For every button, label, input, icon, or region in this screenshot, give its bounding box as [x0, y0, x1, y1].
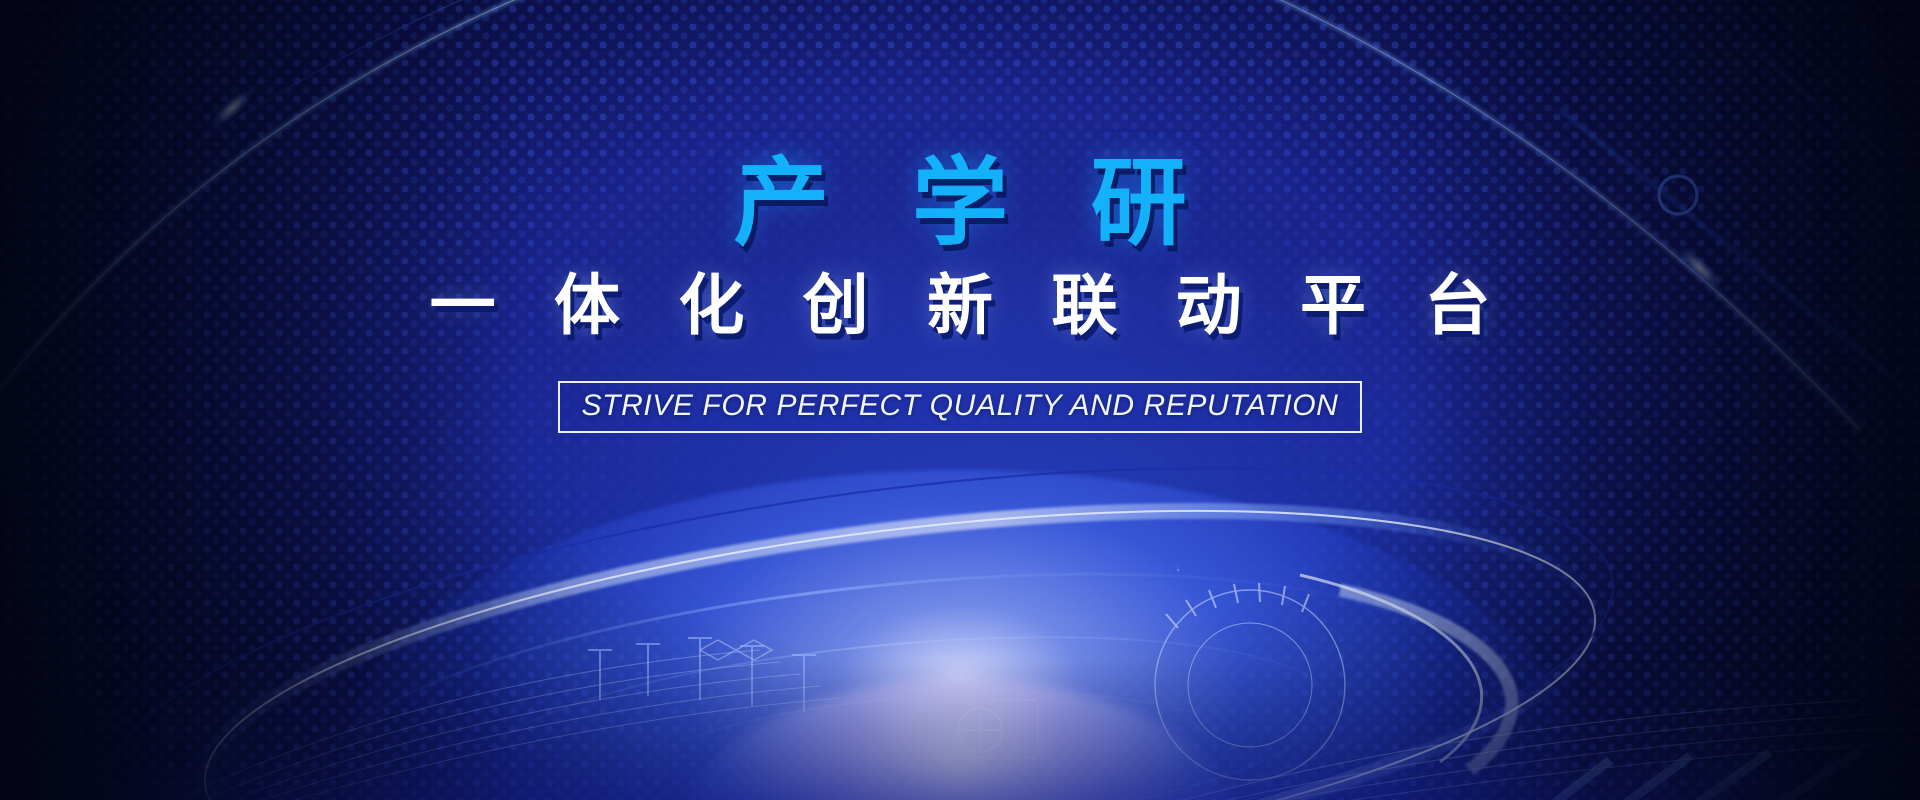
banner-text-block: 产 学 研 一 体 化 创 新 联 动 平 台 STRIVE FOR PERFE…: [0, 0, 1920, 800]
subtitle-label: STRIVE FOR PERFECT QUALITY AND REPUTATIO…: [582, 389, 1339, 423]
headline-secondary: 一 体 化 创 新 联 动 平 台: [410, 266, 1511, 345]
banner-hero: 产 学 研 一 体 化 创 新 联 动 平 台 STRIVE FOR PERFE…: [0, 0, 1920, 800]
subtitle-frame: STRIVE FOR PERFECT QUALITY AND REPUTATIO…: [558, 381, 1363, 433]
headline-primary: 产 学 研: [705, 150, 1214, 258]
